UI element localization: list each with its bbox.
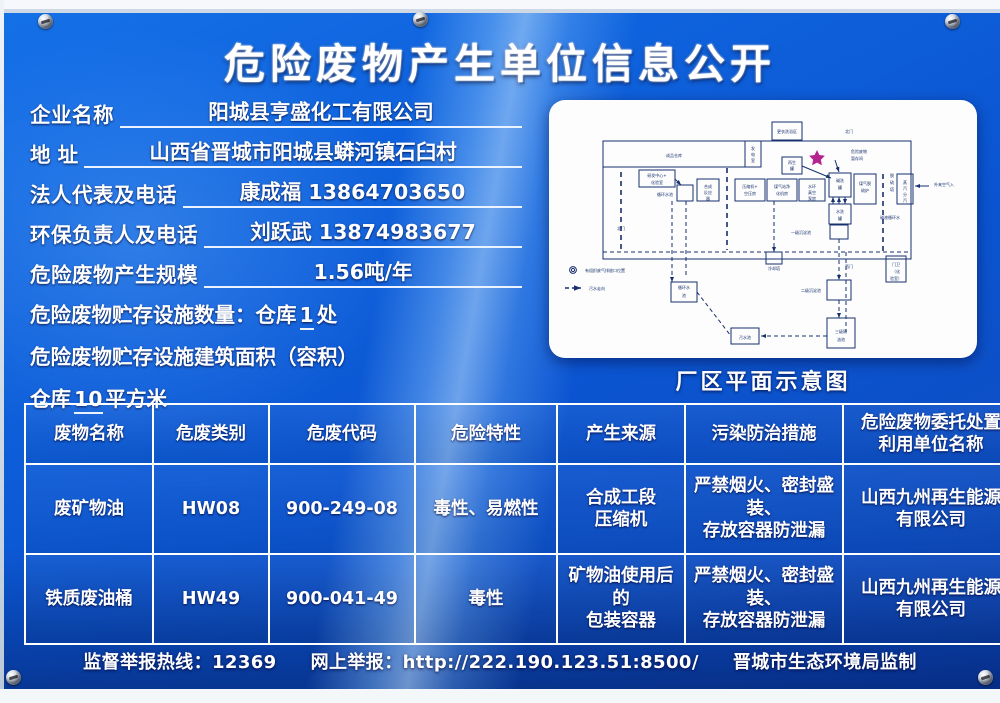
svg-text:验室）: 验室） xyxy=(890,275,902,281)
svg-text:真空: 真空 xyxy=(808,189,816,195)
info-label-address: 地 址 xyxy=(30,138,78,168)
svg-text:硫: 硫 xyxy=(890,179,894,185)
cell-waste-name: 铁质废油桶 xyxy=(25,554,153,644)
screw-icon xyxy=(38,14,53,29)
cell-control-line1: 严禁烟火、密封盛装、 xyxy=(688,475,840,520)
info-row-company: 企业名称 阳城县亨盛化工有限公司 xyxy=(30,98,522,128)
cell-source-line2: 包装容器 xyxy=(560,610,682,632)
svg-text:循环水: 循环水 xyxy=(678,284,690,290)
cell-entrusted-line2: 有限公司 xyxy=(846,599,1000,621)
th-waste-category: 危废类别 xyxy=(153,404,269,464)
cell-entrusted-unit: 山西九州再生能源 有限公司 xyxy=(843,554,1000,644)
svg-text:汽: 汽 xyxy=(903,185,907,191)
th-hazard-traits: 危险特性 xyxy=(415,404,557,464)
cell-entrusted-line2: 有限公司 xyxy=(846,509,1000,531)
th-control-measures: 污染防治措施 xyxy=(685,404,843,464)
svg-text:压缩机+: 压缩机+ xyxy=(742,183,757,189)
svg-text:电: 电 xyxy=(751,151,755,157)
svg-text:危险废物: 危险废物 xyxy=(851,148,867,154)
th-entrusted-unit-line1: 危险废物委托处置 xyxy=(846,412,1000,434)
svg-text:油池: 油池 xyxy=(837,336,845,342)
svg-text:西门: 西门 xyxy=(845,263,853,269)
info-value-env-officer: 刘跃武 13874983677 xyxy=(204,215,522,248)
table-row: 废矿物油 HW08 900-249-08 毒性、易燃性 合成工段 压缩机 严禁烟… xyxy=(25,464,1000,554)
cell-source-line1: 合成工段 xyxy=(560,487,682,509)
info-value-legal-rep: 康成福 13864703650 xyxy=(183,175,522,208)
enterprise-info-block: 企业名称 阳城县亨盛化工有限公司 地 址 山西省晋城市阳城县蟒河镇石臼村 法人代… xyxy=(30,98,522,424)
information-disclosure-board: 危险废物产生单位信息公开 企业名称 阳城县亨盛化工有限公司 地 址 山西省晋城市… xyxy=(0,0,1000,703)
footer-hotline: 监督举报热线：12369 xyxy=(83,648,276,674)
cell-waste-name: 废矿物油 xyxy=(25,464,153,554)
svg-text:研发中心+: 研发中心+ xyxy=(647,172,666,178)
info-row-storage-count: 危险废物贮存设施数量：仓库1处 xyxy=(30,298,522,328)
info-label-legal-rep: 法人代表及电话 xyxy=(30,178,177,208)
svg-text:硫炉: 硫炉 xyxy=(861,187,869,193)
th-entrusted-unit-line2: 利用单位名称 xyxy=(846,434,1000,456)
svg-text:更衣洗浴区: 更衣洗浴区 xyxy=(777,128,797,134)
info-label-storage-area: 危险废物贮存设施建筑面积（容积） xyxy=(30,345,358,369)
svg-text:三级隔: 三级隔 xyxy=(835,328,847,334)
svg-text:碱洗: 碱洗 xyxy=(836,177,844,183)
svg-text:水环: 水环 xyxy=(808,183,816,189)
svg-text:合成: 合成 xyxy=(704,183,712,189)
svg-text:蒸: 蒸 xyxy=(903,179,907,185)
info-suffix-storage-count: 处 xyxy=(317,303,338,327)
svg-text:北门: 北门 xyxy=(617,225,625,231)
board-top-edge-shadow xyxy=(0,9,1000,13)
svg-text:塔: 塔 xyxy=(890,186,894,192)
cell-hazard-traits: 毒性、易燃性 xyxy=(415,464,557,554)
svg-text:罐: 罐 xyxy=(838,184,842,190)
svg-text:外来空气入: 外来空气入 xyxy=(934,181,954,187)
th-waste-name: 废物名称 xyxy=(25,404,153,464)
svg-text:化验室: 化验室 xyxy=(651,179,663,185)
cell-source: 合成工段 压缩机 xyxy=(557,464,685,554)
svg-text:北门: 北门 xyxy=(845,128,853,134)
info-label-env-officer: 环保负责人及电话 xyxy=(30,218,198,248)
cell-waste-code: 900-041-49 xyxy=(269,554,415,644)
svg-text:煤气站净: 煤气站净 xyxy=(774,183,790,189)
cell-entrusted-line1: 山西九州再生能源 xyxy=(846,487,1000,509)
cell-source-line2: 压缩机 xyxy=(560,509,682,531)
page-title: 危险废物产生单位信息公开 xyxy=(0,30,1000,90)
cell-control-line2: 存放容器防泄漏 xyxy=(688,520,840,542)
svg-text:反应: 反应 xyxy=(704,189,712,195)
hazardous-waste-table: 废物名称 危废类别 危废代码 危险特性 产生来源 污染防治措施 危险废物委托处置… xyxy=(24,403,1000,645)
info-row-legal-rep: 法人代表及电话 康成福 13864703650 xyxy=(30,178,522,208)
info-value-company: 阳城县亨盛化工有限公司 xyxy=(120,95,522,128)
info-row-generation-scale: 危险废物产生规模 1.56吨/年 xyxy=(30,258,522,288)
svg-text:污水池: 污水池 xyxy=(739,334,751,340)
info-row-env-officer: 环保负责人及电话 刘跃武 13874983677 xyxy=(30,218,522,248)
cell-control-line1: 严禁烟火、密封盛装、 xyxy=(688,565,840,610)
info-row-address: 地 址 山西省晋城市阳城县蟒河镇石臼村 xyxy=(30,138,522,168)
svg-text:池: 池 xyxy=(682,292,686,298)
svg-text:空压房: 空压房 xyxy=(744,190,756,196)
info-value-generation-scale: 1.56吨/年 xyxy=(204,255,522,288)
svg-text:冷却塔: 冷却塔 xyxy=(768,265,780,271)
cell-control-measures: 严禁烟火、密封盛装、 存放容器防泄漏 xyxy=(685,464,843,554)
board-footer: 监督举报热线：12369 网上举报：http://222.190.123.51:… xyxy=(0,648,1000,674)
info-value-address: 山西省晋城市阳城县蟒河镇石臼村 xyxy=(84,135,522,168)
factory-plan-diagram: 更衣洗浴区 北门 成品仓库 发电室 研发中心+化验室 合成反应器 压缩机+空压房… xyxy=(549,100,977,358)
th-waste-code: 危废代码 xyxy=(269,404,415,464)
board-bottom-edge xyxy=(0,689,1000,703)
svg-text:门卫: 门卫 xyxy=(892,261,900,267)
svg-text:二级沉淀池: 二级沉淀池 xyxy=(801,287,821,293)
svg-text:碱液循环水: 碱液循环水 xyxy=(880,214,900,220)
svg-text:成品仓库: 成品仓库 xyxy=(666,152,682,158)
info-row-storage-area-label: 危险废物贮存设施建筑面积（容积） xyxy=(30,340,522,370)
hazardous-waste-table-wrapper: 废物名称 危废类别 危废代码 危险特性 产生来源 污染防治措施 危险废物委托处置… xyxy=(24,403,976,645)
footer-online-report: 网上举报：http://222.190.123.51:8500/ xyxy=(311,648,699,674)
cell-entrusted-line1: 山西九州再生能源 xyxy=(846,577,1000,599)
screw-icon xyxy=(413,12,428,27)
svg-text:化机房: 化机房 xyxy=(776,190,788,196)
cell-control-line2: 存放容器防泄漏 xyxy=(688,610,840,632)
cell-hazard-traits: 毒性 xyxy=(415,554,557,644)
info-value-storage-count: 1 xyxy=(300,303,314,330)
svg-text:泵房: 泵房 xyxy=(808,195,816,201)
svg-text:循环水池: 循环水池 xyxy=(657,191,673,197)
table-row: 铁质废油桶 HW49 900-041-49 毒性 矿物油使用后的 包装容器 严禁… xyxy=(25,554,1000,644)
svg-text:分: 分 xyxy=(903,191,907,197)
cell-waste-category: HW08 xyxy=(153,464,269,554)
board-top-edge xyxy=(0,0,1000,9)
cell-entrusted-unit: 山西九州再生能源 有限公司 xyxy=(843,464,1000,554)
board-left-edge xyxy=(0,0,4,703)
svg-text:暂存间: 暂存间 xyxy=(851,155,863,161)
plan-diagram-caption: 厂区平面示意图 xyxy=(549,364,977,396)
info-label-storage-count: 危险废物贮存设施数量：仓库 xyxy=(30,303,297,327)
svg-text:再生: 再生 xyxy=(788,159,796,165)
th-source: 产生来源 xyxy=(557,404,685,464)
svg-text:发: 发 xyxy=(751,145,755,151)
info-label-company: 企业名称 xyxy=(30,98,114,128)
cell-waste-code: 900-249-08 xyxy=(269,464,415,554)
svg-text:罐: 罐 xyxy=(790,165,794,171)
info-label-generation-scale: 危险废物产生规模 xyxy=(30,258,198,288)
svg-text:有组织废气排放口位置: 有组织废气排放口位置 xyxy=(585,267,625,273)
svg-text:污水走向: 污水走向 xyxy=(589,285,605,291)
svg-text:器: 器 xyxy=(706,196,710,201)
svg-text:水洗: 水洗 xyxy=(836,208,844,214)
th-entrusted-unit: 危险废物委托处置 利用单位名称 xyxy=(843,404,1000,464)
svg-text:（化: （化 xyxy=(892,268,900,274)
svg-text:一级沉淀池: 一级沉淀池 xyxy=(791,229,811,235)
cell-waste-category: HW49 xyxy=(153,554,269,644)
svg-text:煤气脱: 煤气脱 xyxy=(859,180,871,186)
cell-source: 矿物油使用后的 包装容器 xyxy=(557,554,685,644)
cell-source-line1: 矿物油使用后的 xyxy=(560,565,682,610)
svg-text:脱: 脱 xyxy=(890,172,894,178)
footer-authority: 晋城市生态环境局监制 xyxy=(733,648,917,674)
table-header-row: 废物名称 危废类别 危废代码 危险特性 产生来源 污染防治措施 危险废物委托处置… xyxy=(25,404,1000,464)
screw-icon xyxy=(945,14,960,29)
svg-text:汽: 汽 xyxy=(903,197,907,203)
svg-text:罐: 罐 xyxy=(838,215,842,221)
cell-control-measures: 严禁烟火、密封盛装、 存放容器防泄漏 xyxy=(685,554,843,644)
svg-text:室: 室 xyxy=(751,157,755,163)
